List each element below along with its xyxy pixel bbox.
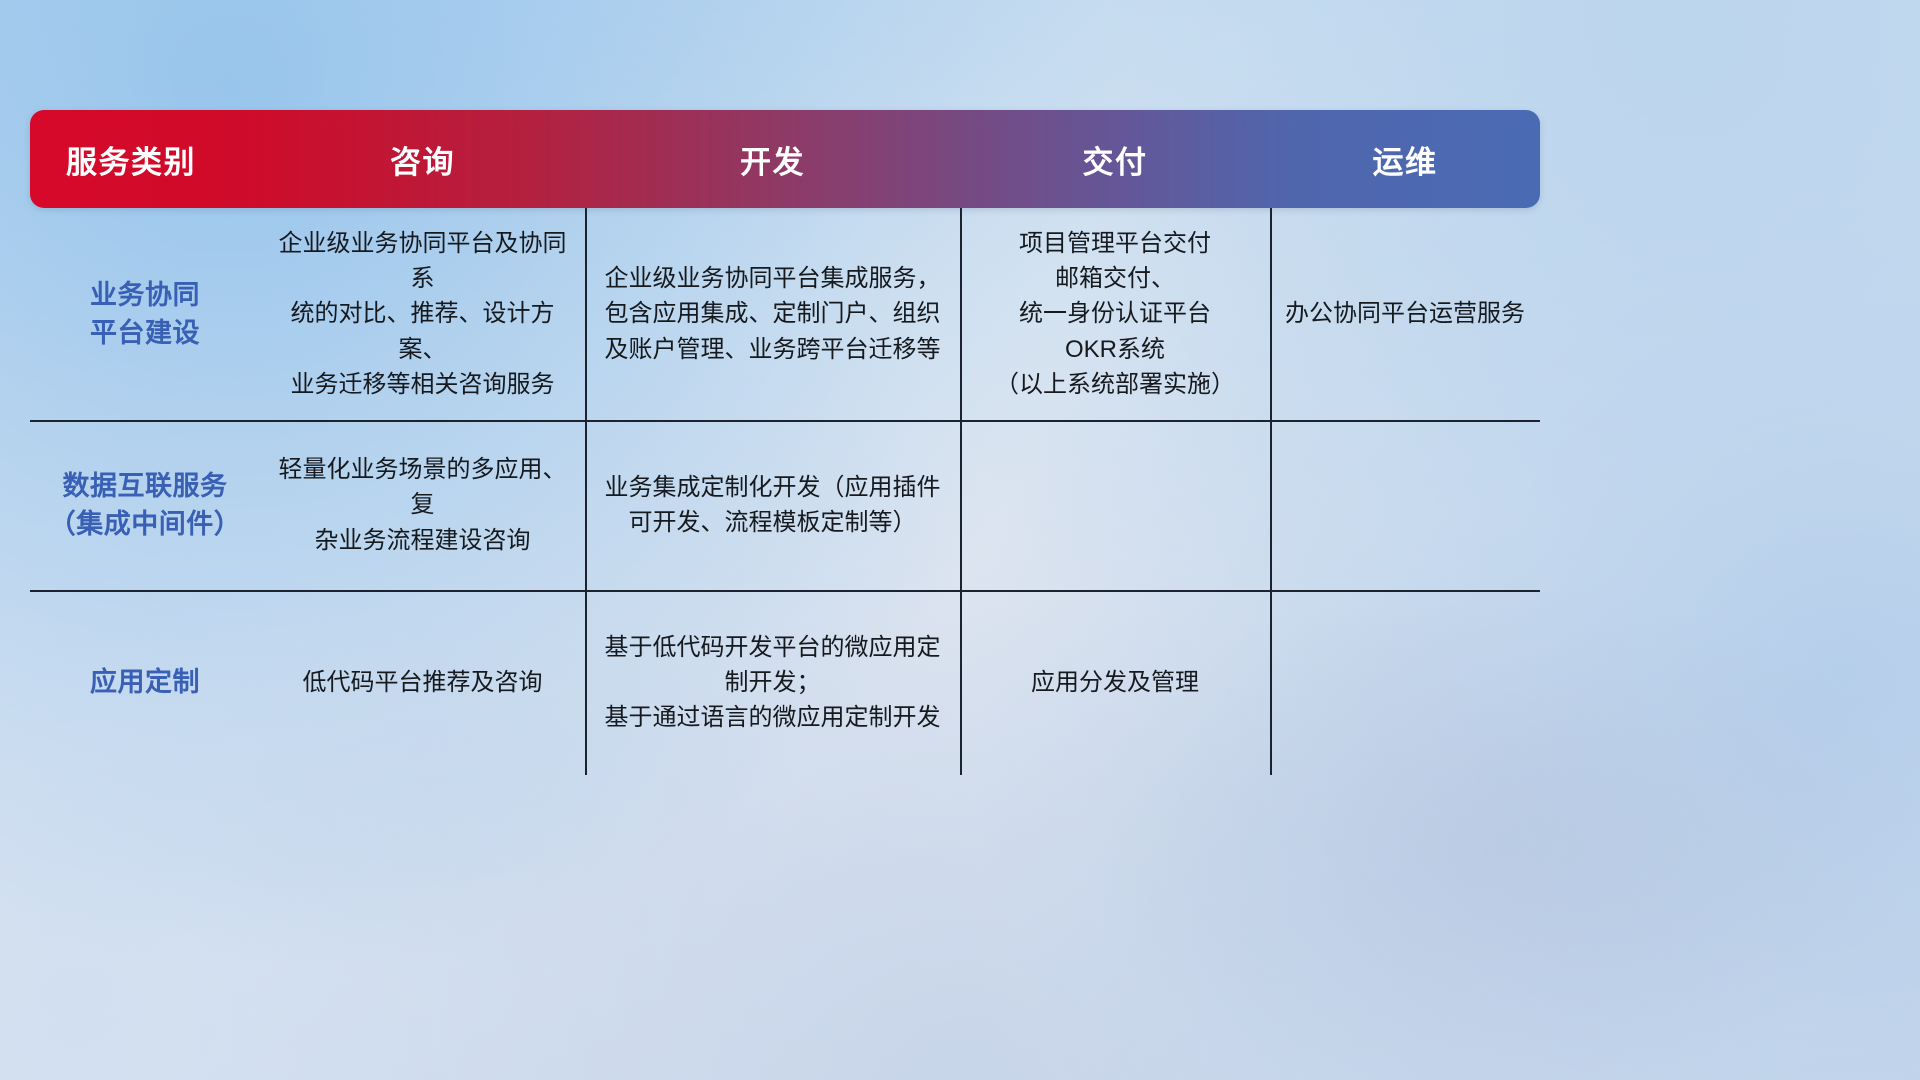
table-row: 数据互联服务 （集成中间件） 轻量化业务场景的多应用、复 杂业务流程建设咨询 业…	[30, 420, 1540, 590]
row-consulting-cell: 企业级业务协同平台及协同系 统的对比、推荐、设计方案、 业务迁移等相关咨询服务	[260, 208, 585, 420]
header-cell-service-category: 服务类别	[30, 137, 260, 182]
table-row: 业务协同 平台建设 企业级业务协同平台及协同系 统的对比、推荐、设计方案、 业务…	[30, 208, 1540, 420]
row-category-label: 数据互联服务 （集成中间件）	[49, 467, 242, 544]
row-delivery-cell	[960, 420, 1270, 590]
row-development-text: 业务集成定制化开发（应用插件 可开发、流程模板定制等）	[605, 470, 941, 540]
row-category-label: 业务协同 平台建设	[90, 276, 200, 353]
row-consulting-text: 企业级业务协同平台及协同系 统的对比、推荐、设计方案、 业务迁移等相关咨询服务	[274, 226, 571, 401]
header-cell-consulting: 咨询	[260, 137, 585, 182]
row-delivery-cell: 项目管理平台交付 邮箱交付、 统一身份认证平台 OKR系统 （以上系统部署实施）	[960, 208, 1270, 420]
row-delivery-text: 应用分发及管理	[1031, 665, 1199, 700]
row-consulting-text: 低代码平台推荐及咨询	[303, 665, 543, 700]
header-cell-delivery: 交付	[960, 137, 1270, 182]
row-category-cell: 应用定制	[30, 590, 260, 775]
row-category-cell: 业务协同 平台建设	[30, 208, 260, 420]
header-cell-development: 开发	[585, 137, 960, 182]
row-development-text: 企业级业务协同平台集成服务， 包含应用集成、定制门户、组织 及账户管理、业务跨平…	[605, 261, 941, 366]
table-body: 业务协同 平台建设 企业级业务协同平台及协同系 统的对比、推荐、设计方案、 业务…	[30, 208, 1540, 775]
service-matrix-table: 服务类别 咨询 开发 交付 运维 业务协同 平台建设 企业级业务协同平台及协同系…	[30, 110, 1540, 775]
row-delivery-text: 项目管理平台交付 邮箱交付、 统一身份认证平台 OKR系统 （以上系统部署实施）	[995, 226, 1235, 401]
row-operations-text: 办公协同平台运营服务	[1285, 296, 1525, 331]
row-development-cell: 业务集成定制化开发（应用插件 可开发、流程模板定制等）	[585, 420, 960, 590]
row-category-label: 应用定制	[90, 663, 200, 701]
row-operations-cell	[1270, 590, 1540, 775]
row-operations-cell: 办公协同平台运营服务	[1270, 208, 1540, 420]
row-development-cell: 企业级业务协同平台集成服务， 包含应用集成、定制门户、组织 及账户管理、业务跨平…	[585, 208, 960, 420]
header-cell-operations: 运维	[1270, 137, 1540, 182]
row-development-cell: 基于低代码开发平台的微应用定 制开发； 基于通过语言的微应用定制开发	[585, 590, 960, 775]
row-development-text: 基于低代码开发平台的微应用定 制开发； 基于通过语言的微应用定制开发	[605, 630, 941, 735]
row-consulting-cell: 轻量化业务场景的多应用、复 杂业务流程建设咨询	[260, 420, 585, 590]
row-consulting-text: 轻量化业务场景的多应用、复 杂业务流程建设咨询	[274, 452, 571, 557]
row-operations-cell	[1270, 420, 1540, 590]
table-header-row: 服务类别 咨询 开发 交付 运维	[30, 110, 1540, 208]
row-consulting-cell: 低代码平台推荐及咨询	[260, 590, 585, 775]
row-delivery-cell: 应用分发及管理	[960, 590, 1270, 775]
row-category-cell: 数据互联服务 （集成中间件）	[30, 420, 260, 590]
table-row: 应用定制 低代码平台推荐及咨询 基于低代码开发平台的微应用定 制开发； 基于通过…	[30, 590, 1540, 775]
